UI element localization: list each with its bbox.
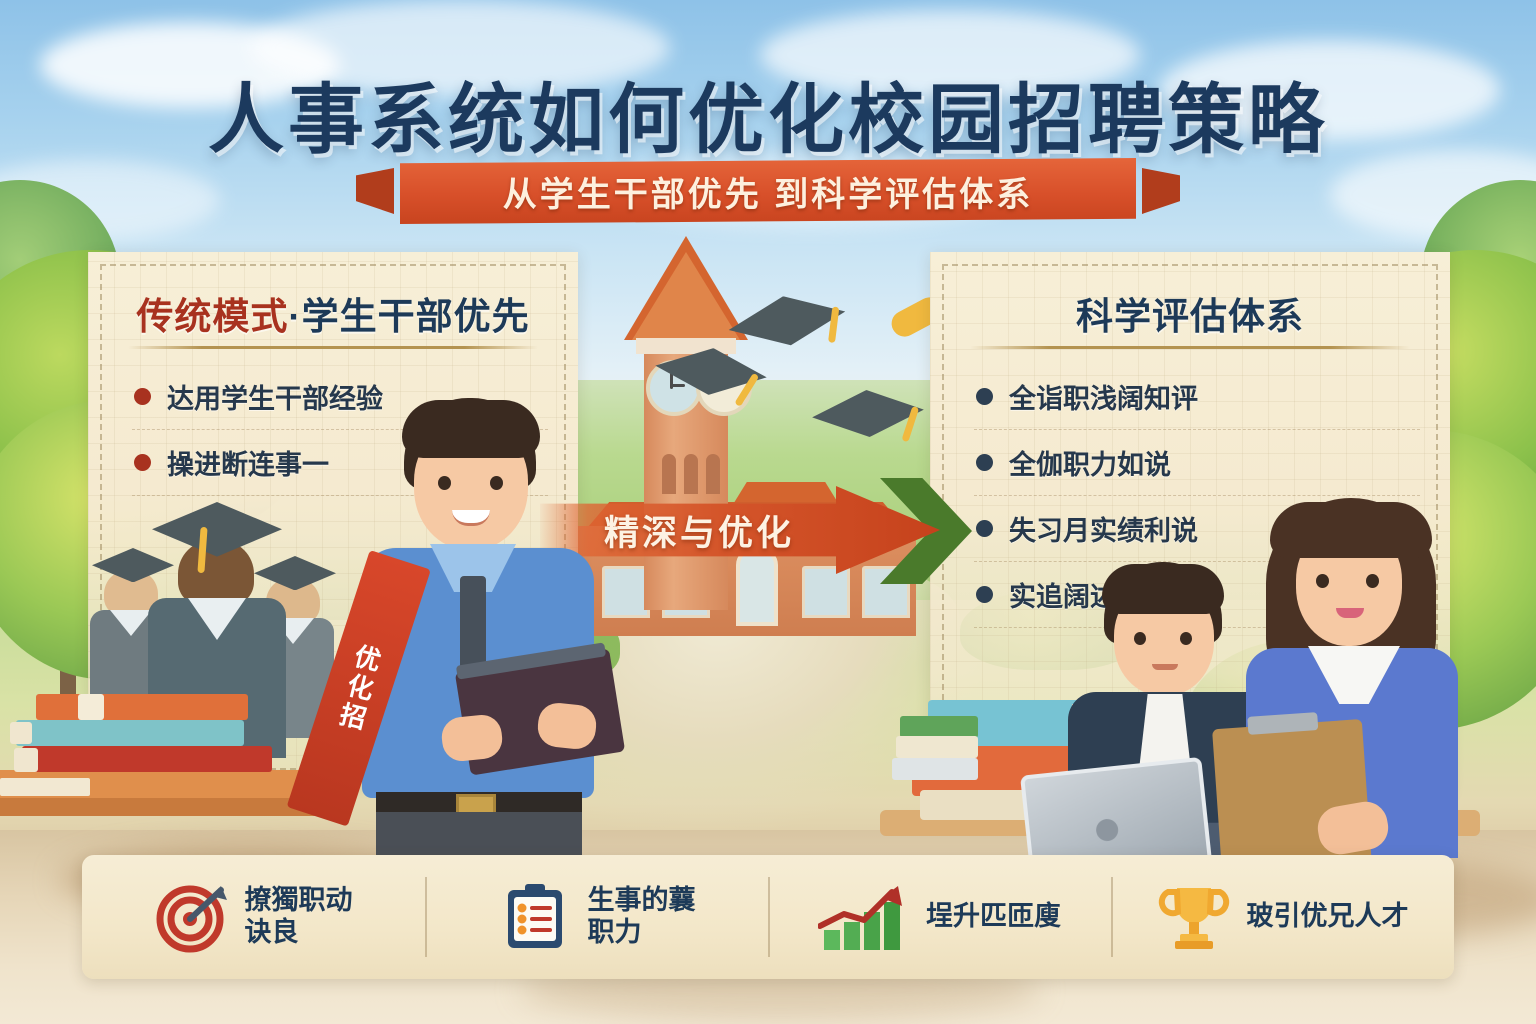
feature-label-line1: 生事的蘘 — [588, 885, 696, 917]
right-panel-divider — [970, 346, 1410, 349]
student-with-sash: 优化招 — [352, 398, 612, 868]
left-panel-heading: 传统模式·学生干部优先 — [88, 286, 578, 340]
eye — [438, 476, 451, 490]
clipboard-icon — [498, 880, 572, 954]
bookmark — [78, 694, 104, 720]
book-pages — [10, 722, 32, 744]
book — [892, 758, 978, 780]
tower-louvre — [706, 454, 720, 494]
book — [16, 720, 244, 746]
list-item: 全诣职浅阔知评 — [974, 364, 1420, 430]
eye — [1180, 632, 1192, 645]
feature-label-line1: 玻引优兄人才 — [1247, 901, 1409, 933]
book — [900, 716, 978, 738]
feature-label-line1: 撩獨职动 — [245, 885, 353, 917]
arrow-label: 精深与优化 — [604, 505, 794, 556]
eye — [490, 476, 503, 490]
subtitle-text: 从学生干部优先 到科学评估体系 — [503, 167, 1033, 216]
list-item-label: 全诣职浅阔知评 — [1009, 377, 1198, 416]
laptop-logo-icon — [1095, 818, 1119, 842]
book — [896, 736, 978, 758]
feature-item-label: 埕升匹匝廋 — [926, 901, 1061, 933]
right-panel-heading: 科学评估体系 — [930, 286, 1450, 340]
graduation-cap-icon — [810, 386, 925, 441]
feature-item-label: 撩獨职动 诀良 — [245, 885, 353, 949]
feature-item-target[interactable]: 撩獨职动 诀良 — [82, 855, 425, 979]
bullet-dot-icon — [976, 520, 993, 537]
list-item-label: 达用学生干部经验 — [167, 377, 383, 416]
window — [802, 566, 850, 618]
feature-item-label: 生事的蘘 职力 — [588, 885, 696, 949]
list-item-label: 失习月实绩利说 — [1009, 509, 1198, 548]
tower-louvre — [684, 454, 698, 494]
trophy-icon — [1157, 880, 1231, 954]
tower-roof-highlight — [632, 252, 740, 340]
book — [22, 746, 272, 772]
necktie — [460, 576, 486, 672]
eye — [1366, 574, 1379, 588]
poster-canvas: 人事系统如何优化校园招聘策略 从学生干部优先 到科学评估体系 传统模式·学生干部… — [0, 0, 1536, 1024]
feature-item-label: 玻引优兄人才 — [1247, 901, 1409, 933]
left-panel-heading-accent: 传统模式 — [136, 296, 288, 337]
left-panel-heading-sep: · — [288, 296, 301, 337]
eye — [1134, 632, 1146, 645]
hair-fringe — [1270, 502, 1432, 558]
bullet-dot-icon — [976, 586, 993, 603]
hair-fringe — [1102, 564, 1224, 614]
feature-label-line2: 职力 — [588, 917, 696, 949]
sash-label: 优化招 — [330, 640, 388, 736]
list-item: 全伽职力如说 — [974, 430, 1420, 496]
feature-label-line2: 诀良 — [245, 917, 353, 949]
bullet-dot-icon — [976, 454, 993, 471]
feature-item-growth[interactable]: 埕升匹匝廋 — [768, 855, 1111, 979]
subtitle-ribbon: 从学生干部优先 到科学评估体系 — [0, 158, 1536, 224]
page-title: 人事系统如何优化校园招聘策略 — [0, 58, 1536, 168]
bottom-feature-bar: 撩獨职动 诀良 生事的蘘 职力 — [82, 855, 1454, 979]
growth-chart-icon — [818, 880, 910, 954]
book-pages — [14, 748, 38, 772]
list-item-label: 全伽职力如说 — [1009, 443, 1171, 482]
feature-item-clipboard[interactable]: 生事的蘘 职力 — [425, 855, 768, 979]
left-panel-heading-main: 学生干部优先 — [302, 296, 530, 337]
entrance-arch — [736, 548, 778, 626]
bullet-dot-icon — [134, 454, 151, 471]
hair-fringe — [402, 400, 540, 458]
target-icon — [155, 880, 229, 954]
mouth — [1152, 664, 1178, 670]
feature-item-trophy[interactable]: 玻引优兄人才 — [1111, 855, 1454, 979]
tower-louvre — [662, 454, 676, 494]
book — [36, 694, 248, 720]
bullet-dot-icon — [976, 388, 993, 405]
bullet-dot-icon — [134, 388, 151, 405]
list-item-label: 操进断连事一 — [167, 443, 329, 482]
left-panel-divider — [128, 346, 538, 349]
eye — [1316, 574, 1329, 588]
feature-label-line1: 埕升匹匝廋 — [926, 901, 1061, 933]
student-with-clipboard — [1252, 498, 1492, 858]
book-flat — [0, 778, 90, 796]
clipboard-clip-icon — [1247, 712, 1318, 735]
table-left — [0, 796, 320, 816]
